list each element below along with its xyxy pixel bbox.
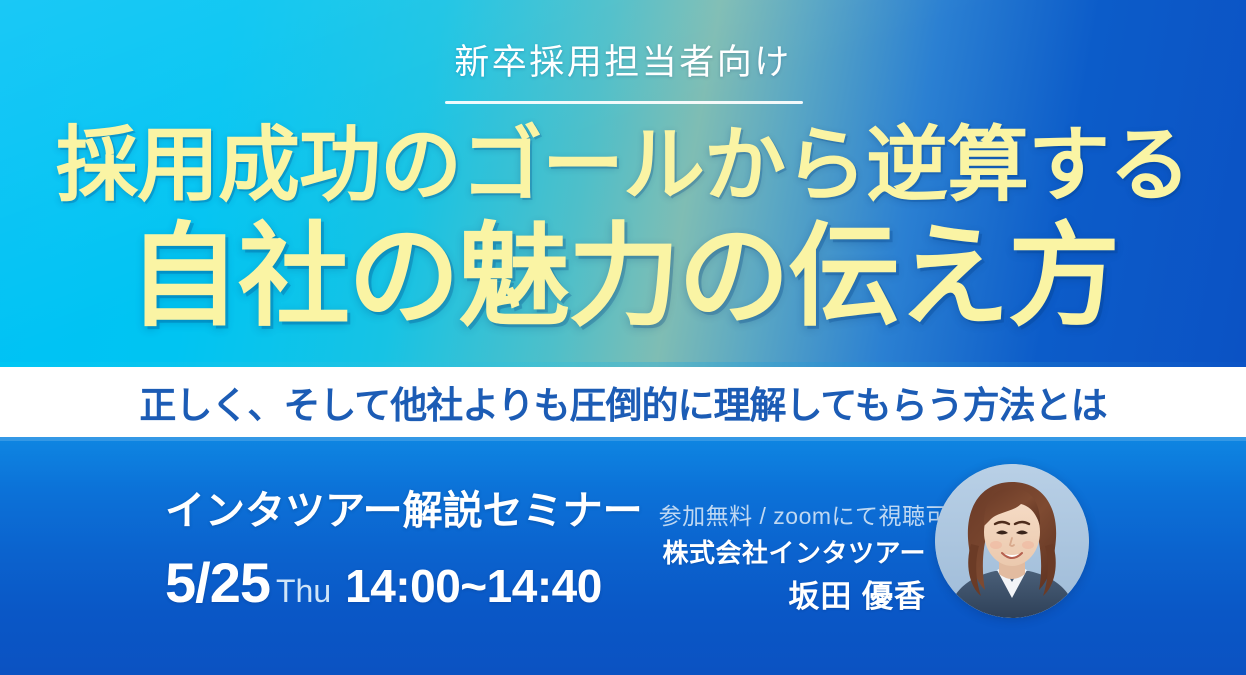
subtitle-band: 正しく、そして他社よりも圧倒的に理解してもらう方法とは	[0, 367, 1246, 437]
seminar-day-of-week: Thu	[276, 573, 331, 610]
hero-kicker-text: 新卒採用担当者向け	[0, 44, 1246, 83]
seminar-name: インタツアー解説セミナー	[165, 478, 643, 536]
seminar-banner: 新卒採用担当者向け 採用成功のゴールから逆算する 自社の魅力の伝え方 正しく、そ…	[0, 0, 1246, 675]
speaker-portrait-photo	[935, 464, 1089, 618]
seminar-datetime-row: 5/25 Thu 14:00~14:40	[165, 550, 602, 615]
subtitle-text: 正しく、そして他社よりも圧倒的に理解してもらう方法とは	[139, 375, 1106, 429]
speaker-person-name: 坂田 優香	[663, 578, 926, 615]
seminar-date: 5/25	[165, 550, 270, 615]
hero-section: 新卒採用担当者向け 採用成功のゴールから逆算する 自社の魅力の伝え方	[0, 0, 1246, 367]
hero-title-line-1: 採用成功のゴールから逆算する	[0, 125, 1246, 207]
hero-title-line-2: 自社の魅力の伝え方	[0, 221, 1246, 333]
speaker-company-name: 株式会社インタツアー	[663, 537, 926, 570]
seminar-title-row: インタツアー解説セミナー 参加無料 / zoomにて視聴可	[165, 478, 949, 536]
speaker-info-block: 株式会社インタツアー 坂田 優香	[663, 537, 926, 615]
hero-divider-rule	[445, 101, 803, 104]
seminar-time-range: 14:00~14:40	[345, 559, 602, 613]
seminar-participation-note: 参加無料 / zoomにて視聴可	[659, 497, 949, 531]
